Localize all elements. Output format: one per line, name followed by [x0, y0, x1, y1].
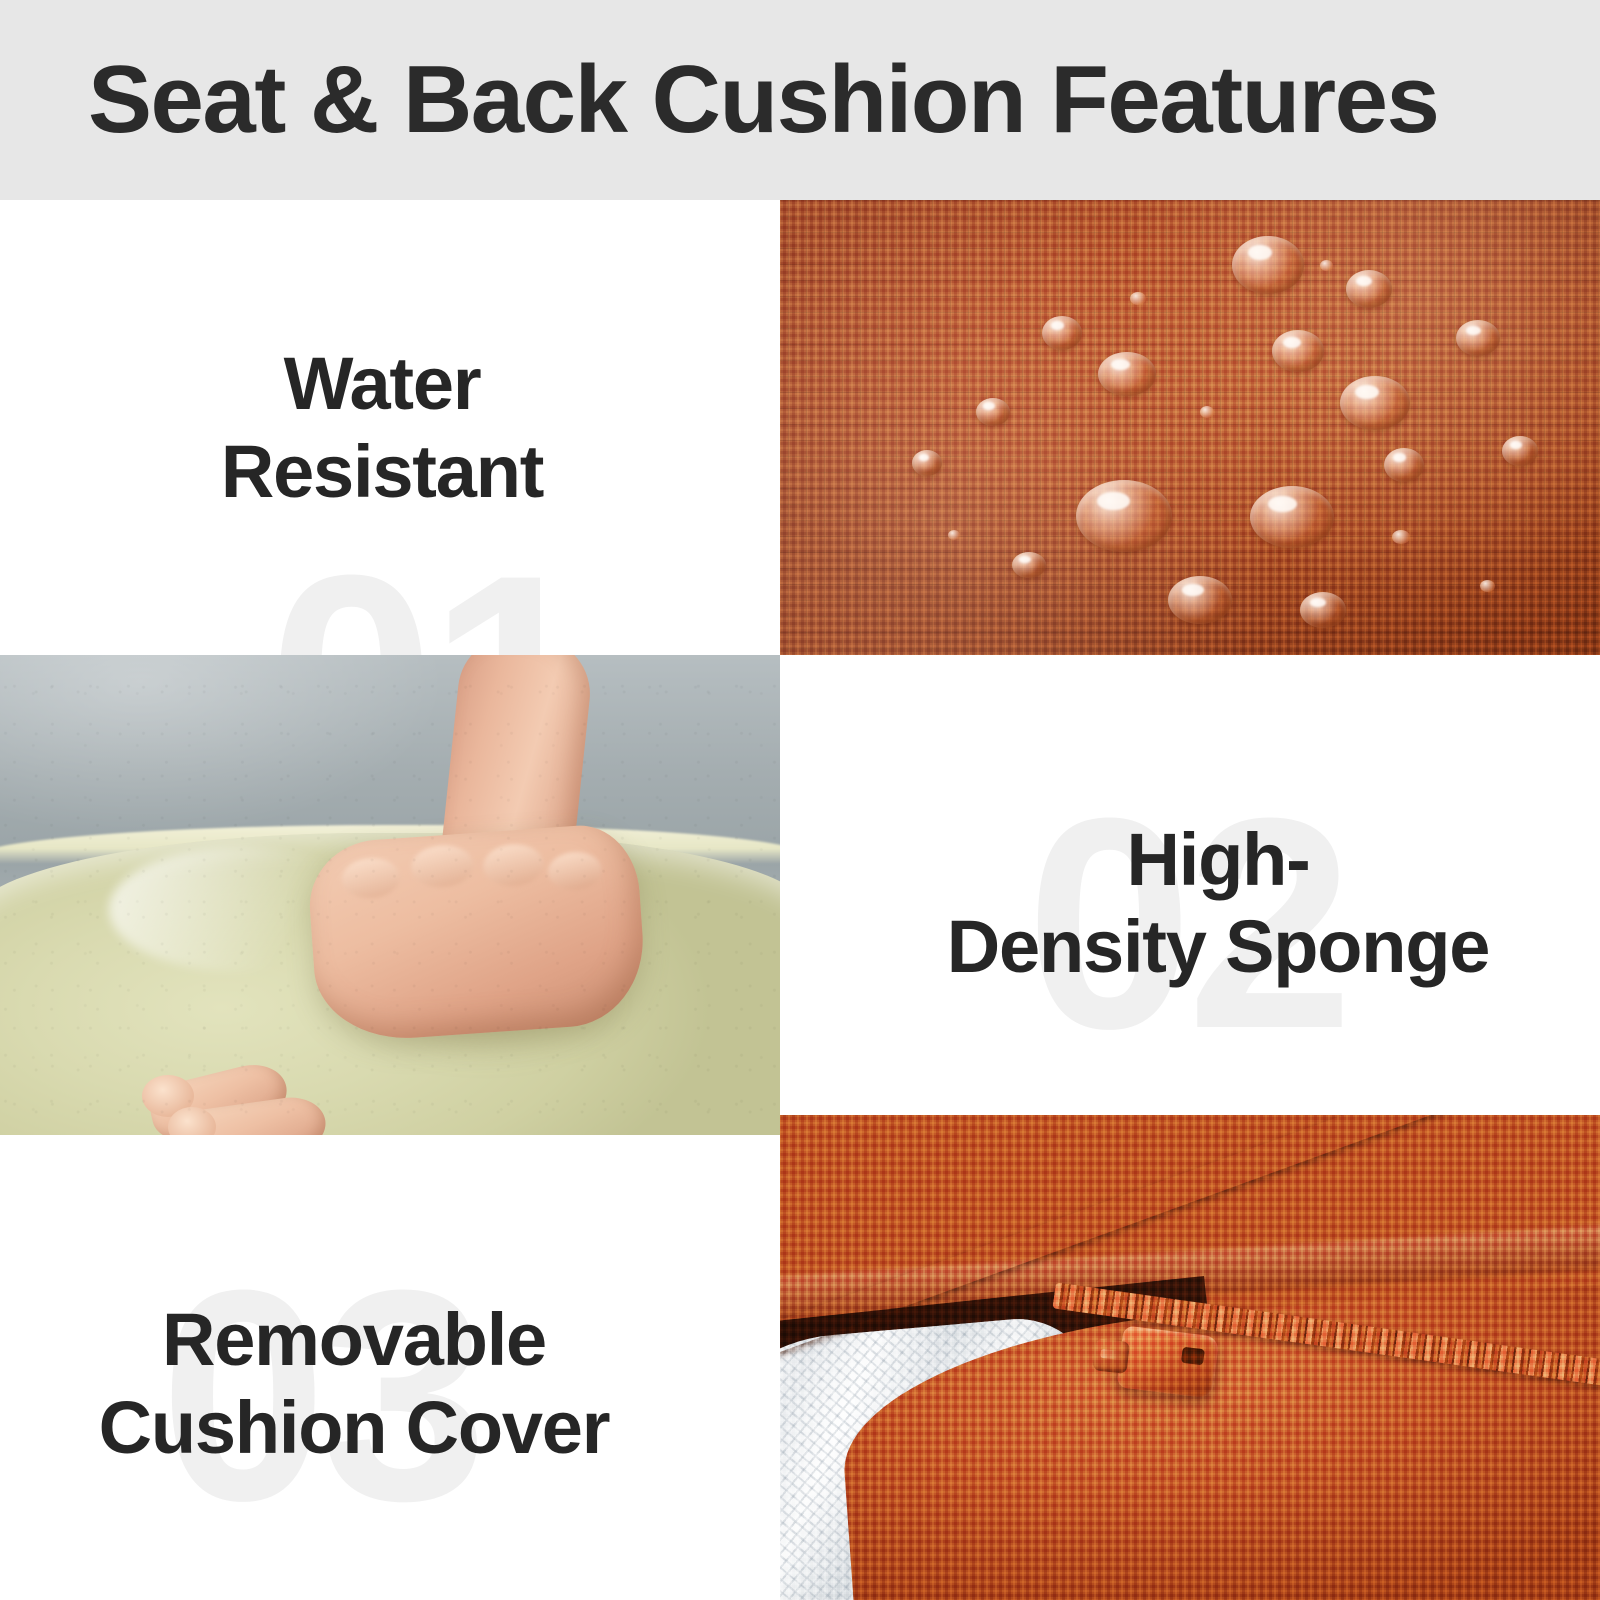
feature-1-image-water-resistant — [780, 200, 1600, 655]
water-droplet — [1076, 480, 1172, 552]
water-droplet — [1250, 486, 1334, 548]
water-droplet — [1300, 592, 1346, 628]
feature-1-number-watermark: 01 — [268, 530, 590, 655]
foam-grain-texture — [0, 655, 780, 1135]
feature-1-title-line2: Resistant — [221, 428, 543, 515]
page-title: Seat & Back Cushion Features — [0, 52, 1438, 148]
water-microdroplet — [1480, 580, 1495, 592]
feature-3-image-removable-cover — [780, 1115, 1600, 1600]
water-droplet — [1456, 320, 1500, 356]
feature-2-title-line2: Density Sponge — [947, 903, 1489, 990]
feature-2-image-high-density-sponge — [0, 655, 780, 1135]
water-droplet — [1272, 330, 1324, 372]
feature-3-text-cell: 03 Removable Cushion Cover — [0, 1135, 780, 1600]
water-microdroplet — [1320, 260, 1333, 271]
feature-1-text-cell: 01 Water Resistant — [0, 200, 780, 655]
infographic-page: Seat & Back Cushion Features 01 Water Re… — [0, 0, 1600, 1600]
water-microdroplet — [1200, 406, 1214, 418]
water-microdroplet — [1130, 292, 1146, 305]
zipper-pull-hole — [1181, 1347, 1205, 1366]
zipper-pull-slider — [1117, 1325, 1220, 1398]
water-droplet — [976, 398, 1010, 426]
zipper-scene — [780, 1115, 1600, 1600]
feature-2-title: High- Density Sponge — [947, 816, 1489, 991]
feature-2-text-cell: 02 High- Density Sponge — [780, 655, 1600, 1115]
water-droplet — [912, 450, 942, 476]
feature-3-title: Removable Cushion Cover — [99, 1296, 610, 1471]
foam-scene — [0, 655, 780, 1135]
feature-2-title-line1: High- — [947, 816, 1489, 903]
header-band: Seat & Back Cushion Features — [0, 0, 1600, 200]
water-droplet — [1384, 448, 1424, 482]
water-droplet — [1502, 436, 1538, 466]
water-droplet — [1042, 316, 1082, 350]
water-microdroplet — [948, 530, 960, 540]
water-droplet — [1012, 552, 1046, 578]
feature-1-title: Water Resistant — [221, 340, 543, 515]
water-microdroplet — [1392, 530, 1410, 544]
water-droplet — [1346, 270, 1392, 308]
water-droplet — [1340, 376, 1410, 430]
feature-3-title-line1: Removable — [99, 1296, 610, 1383]
water-droplet — [1098, 352, 1156, 396]
feature-3-title-line2: Cushion Cover — [99, 1384, 610, 1471]
feature-1-title-line1: Water — [221, 340, 543, 427]
water-droplet — [1168, 576, 1232, 624]
water-droplet — [1232, 236, 1304, 294]
